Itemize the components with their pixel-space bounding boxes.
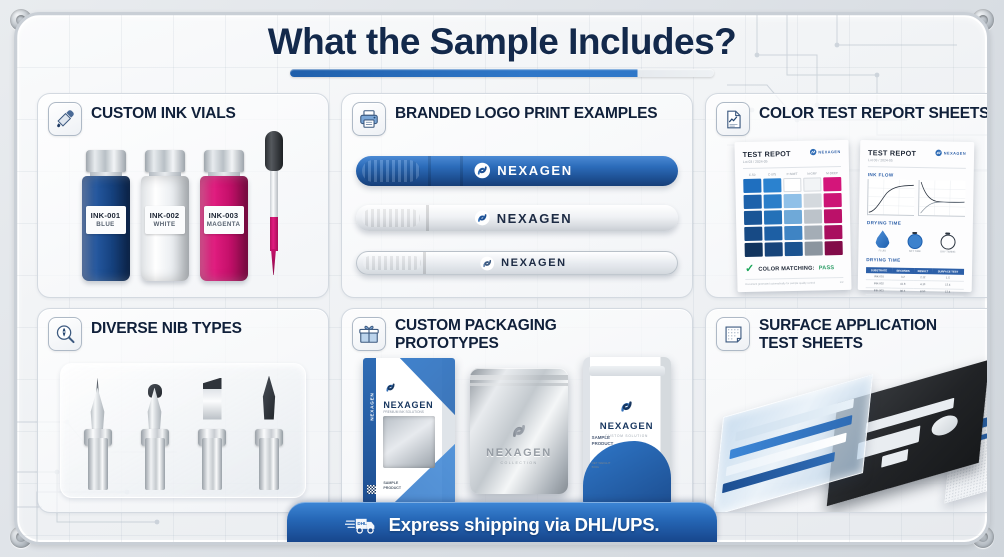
panel-surface-application-test-sheets[interactable]: SURFACE APPLICATION TEST SHEETS xyxy=(705,308,990,513)
sheet-brand-text: NEXAGEN xyxy=(818,149,840,153)
tin-lid-edge xyxy=(470,375,568,380)
pen-white[interactable]: NEXAGEN xyxy=(356,205,678,231)
vial-body: INK-002 WHITE xyxy=(141,176,189,281)
page-title: What the Sample Includes? xyxy=(17,21,987,63)
panel-title: COLOR TEST REPORT SHEETS xyxy=(759,102,989,123)
color-swatch xyxy=(783,177,801,191)
section-title-drying-table: DRYING TIME xyxy=(866,257,964,264)
qr-code xyxy=(367,485,376,494)
drying-icon-item: DRY TIMING xyxy=(940,232,956,253)
pen-transparent[interactable]: NEXAGEN xyxy=(356,251,678,275)
table-body: INK-0013.22.121.5INK-00241.84.1012.4INK-… xyxy=(865,273,963,296)
pen-grip xyxy=(362,209,420,227)
svg-text:DHL: DHL xyxy=(357,521,367,526)
section-title-ink-flow: INK FLOW xyxy=(867,172,965,179)
vial-code: INK-003 xyxy=(206,211,242,220)
nexagen-logo-icon xyxy=(480,256,495,271)
color-swatch xyxy=(743,210,761,224)
result-label: COLOR MATCHING: xyxy=(758,265,814,272)
ink-vial-001[interactable]: INK-001 BLUE xyxy=(82,150,130,281)
pipette-dropper xyxy=(263,131,285,281)
panel-branded-logo-print-examples[interactable]: BRANDED LOGO PRINT EXAMPLES xyxy=(341,93,693,298)
vial-label: INK-001 BLUE xyxy=(86,206,126,234)
panel-header: CUSTOM PACKAGING PROTOTYPES xyxy=(352,317,682,354)
box-spine: NEXAGEN xyxy=(363,358,376,504)
dropper-icon xyxy=(48,102,82,136)
shipping-banner[interactable]: DHL Express shipping via DHL/UPS. xyxy=(287,502,717,542)
inner-bezel: What the Sample Includes? CUSTOM IN xyxy=(14,12,990,545)
sheet-header: TEST REPOT Lot 03 / 2024-05 N xyxy=(742,147,840,168)
table-column-header: RESULT xyxy=(913,267,931,273)
pen-logo-text: NEXAGEN xyxy=(501,257,567,269)
panel-stage: INK-001 BLUE INK-002 WHITE xyxy=(46,142,320,289)
pen-logo-text: NEXAGEN xyxy=(497,163,573,178)
sheet-header: TEST REPOT Lot 03 / 2024-05 N xyxy=(867,148,965,169)
stopwatch-outline-icon xyxy=(940,234,955,249)
pouch-zipper xyxy=(589,366,665,376)
title-underline xyxy=(290,69,714,77)
drying-time-icons: FLUID SET TIME DRY TIMING xyxy=(866,230,964,254)
color-swatch xyxy=(783,209,801,223)
tin-branding: NEXAGEN COLLECTION xyxy=(470,420,568,465)
pen-logo-text: NEXAGEN xyxy=(497,211,573,226)
sheet-subheading: Lot 03 / 2024-05 xyxy=(742,159,790,164)
packaging-list: NEXAGEN NEXAGEN PREMIUM INK SOLUTIONS xyxy=(350,357,684,504)
stopwatch-filled-icon xyxy=(907,233,922,248)
table-cell: 12.4 xyxy=(931,281,963,289)
panel-color-test-report-sheets[interactable]: COLOR TEST REPORT SHEETS TEST REPOT Lot … xyxy=(705,93,990,298)
dark-mark xyxy=(881,449,908,468)
color-swatch xyxy=(743,178,761,192)
packaging-metal-tin[interactable]: NEXAGEN COLLECTION xyxy=(470,368,568,494)
color-swatch xyxy=(784,241,802,255)
box-branding: NEXAGEN PREMIUM INK SOLUTIONS xyxy=(383,380,433,414)
nib-tip xyxy=(261,376,278,420)
swatch-col-label: C-50 xyxy=(743,172,761,176)
printer-icon xyxy=(352,102,386,136)
textured-sheet-icon xyxy=(716,317,750,351)
pouch-note-text: NET WEIGHT500G xyxy=(592,461,611,470)
color-swatch xyxy=(823,193,841,207)
report-sheet-ink-flow[interactable]: TEST REPOT Lot 03 / 2024-05 N xyxy=(857,140,974,292)
nib-tip xyxy=(203,378,222,420)
pen-branding: NEXAGEN xyxy=(474,162,573,179)
color-swatch xyxy=(764,242,782,256)
table-cell: INK-003 xyxy=(865,287,891,295)
vial-color-name: BLUE xyxy=(88,221,124,228)
color-swatch xyxy=(744,226,762,240)
sheet-footer: Document generated automatically for sam… xyxy=(745,276,843,285)
vial-code: INK-002 xyxy=(147,211,183,220)
table-column-header: SECONDS xyxy=(892,267,914,274)
panel-header: SURFACE APPLICATION TEST SHEETS xyxy=(716,317,990,354)
pen-branding: NEXAGEN xyxy=(480,256,567,271)
table-column-header: SUBSTRATE xyxy=(865,267,891,274)
panel-title: BRANDED LOGO PRINT EXAMPLES xyxy=(395,102,657,123)
magnifier-nib-icon xyxy=(48,317,82,351)
ink-flow-charts xyxy=(867,179,966,217)
box-footer-text: SAMPLEPRODUCT xyxy=(383,481,401,492)
sheet-footer-left: Document generated automatically for sam… xyxy=(745,281,815,285)
panel-title: CUSTOM INK VIALS xyxy=(91,102,236,123)
pouch-brand-text: NEXAGEN xyxy=(583,421,671,432)
nexagen-logo-icon xyxy=(383,380,398,395)
color-swatch xyxy=(763,194,781,208)
dropper-tip xyxy=(271,249,276,275)
nexagen-logo-icon xyxy=(508,420,530,442)
tin-brand-text: NEXAGEN xyxy=(470,447,568,459)
pouch-branding: NEXAGEN CUSTOM SOLUTION xyxy=(583,397,671,438)
chart-flow-rise xyxy=(867,179,915,216)
swatch-col-label: C-075 xyxy=(763,172,781,176)
panel-title: CUSTOM PACKAGING PROTOTYPES xyxy=(395,317,557,354)
dropper-fluid xyxy=(270,217,278,251)
panel-title-line2: PROTOTYPES xyxy=(395,335,557,353)
surface-sample-list xyxy=(714,357,990,504)
vial-body: INK-003 MAGENTA xyxy=(200,176,248,281)
color-swatch xyxy=(823,176,841,190)
color-swatch xyxy=(743,194,761,208)
sheet-brand-text: NEXAGEN xyxy=(943,150,965,154)
vial-color-name: MAGENTA xyxy=(206,221,242,228)
nexagen-logo-icon xyxy=(475,210,491,226)
brush-nib[interactable] xyxy=(252,372,286,490)
vial-body: INK-001 BLUE xyxy=(82,176,130,281)
sheet-brand: NEXAGEN xyxy=(934,149,965,157)
box-tagline: PREMIUM INK SOLUTIONS xyxy=(383,410,433,414)
table-cell: 88.6 xyxy=(891,287,913,295)
nib-barrel xyxy=(259,438,279,490)
droplet-icon xyxy=(875,230,889,248)
swatch-column-labels: C-50 C-075 P-SOFT N-GRY M-DEEP xyxy=(743,170,841,176)
color-swatch xyxy=(744,242,762,256)
color-swatch xyxy=(804,241,822,255)
dropper-bulb xyxy=(265,131,283,171)
pen-branding: NEXAGEN xyxy=(475,210,573,226)
dark-dot xyxy=(931,412,959,438)
panel-title: DIVERSE NIB TYPES xyxy=(91,317,242,338)
feature-grid: CUSTOM INK VIALS INK-001 BLUE xyxy=(37,93,967,513)
panel-diverse-nib-types[interactable]: DIVERSE NIB TYPES xyxy=(37,308,329,513)
panel-custom-packaging-prototypes[interactable]: CUSTOM PACKAGING PROTOTYPES NEXAGEN xyxy=(341,308,693,513)
vial-label: INK-003 MAGENTA xyxy=(204,206,244,234)
drying-icon-caption: SET TIME xyxy=(907,249,922,252)
pen-ring xyxy=(426,205,429,231)
pouch-graphic-curve xyxy=(583,441,671,505)
bullet-nib[interactable] xyxy=(138,372,172,490)
table-cell: 41.8 xyxy=(891,280,913,288)
color-swatch-grid xyxy=(743,176,843,256)
color-swatch xyxy=(803,209,821,223)
shipping-banner-text: Express shipping via DHL/UPS. xyxy=(389,514,660,536)
table-column-header: SURFACE TEST xyxy=(931,268,963,275)
result-value: PASS xyxy=(818,264,834,270)
document-chart-icon xyxy=(716,102,750,136)
panel-stage xyxy=(46,357,320,504)
chisel-nib[interactable] xyxy=(195,372,229,490)
pen-ring xyxy=(460,156,463,186)
box-brand-text: NEXAGEN xyxy=(383,400,433,410)
packaging-stand-up-pouch[interactable]: NEXAGEN CUSTOM SOLUTION SAMPLEPRODUCT NE… xyxy=(583,357,671,505)
color-swatch xyxy=(783,193,801,207)
table-cell: 8.50 xyxy=(913,288,931,295)
nib-barrel xyxy=(145,438,165,490)
ink-vial-003[interactable]: INK-003 MAGENTA xyxy=(200,150,248,281)
panel-title-line2: TEST SHEETS xyxy=(759,335,937,353)
sheet-subheading: Lot 03 / 2024-05 xyxy=(867,158,915,163)
nexagen-logo-icon xyxy=(809,148,816,155)
vial-label: INK-002 WHITE xyxy=(145,206,185,234)
swatch-col-label: P-SOFT xyxy=(783,171,801,175)
swatch-col-label: N-GRY xyxy=(803,171,821,175)
sheet-heading: TEST REPOT xyxy=(868,148,916,158)
panel-header: BRANDED LOGO PRINT EXAMPLES xyxy=(352,102,682,136)
check-icon: ✓ xyxy=(744,263,753,274)
vial-cap xyxy=(204,150,244,172)
pen-grip xyxy=(362,160,420,182)
chart-flow-decay xyxy=(917,180,965,217)
header: What the Sample Includes? xyxy=(17,21,987,77)
nib-barrel xyxy=(88,438,108,490)
box-spine-text: NEXAGEN xyxy=(370,386,375,426)
table-cell: 13.4 xyxy=(931,288,963,296)
swatch-col-label: M-DEEP xyxy=(823,170,841,174)
panel-header: DIVERSE NIB TYPES xyxy=(48,317,318,351)
sheet-heading: TEST REPOT xyxy=(742,149,790,159)
delivery-truck-icon: DHL xyxy=(345,513,379,537)
vial-code: INK-001 xyxy=(88,211,124,220)
color-swatch xyxy=(763,210,781,224)
table-cell: 3.2 xyxy=(891,273,913,280)
nib-barrel xyxy=(202,438,222,490)
drying-icon-item: FLUID xyxy=(875,230,889,252)
panel-stage: TEST REPOT Lot 03 / 2024-05 N xyxy=(714,142,990,289)
sheet-brand: NEXAGEN xyxy=(809,147,840,155)
color-swatch xyxy=(823,209,841,223)
color-swatch xyxy=(824,225,842,239)
box-window xyxy=(383,416,435,468)
pen-list: NEXAGEN xyxy=(350,142,684,289)
outer-frame: What the Sample Includes? CUSTOM IN xyxy=(0,0,1004,557)
nexagen-logo-icon xyxy=(934,149,941,156)
tin-sub-text: COLLECTION xyxy=(470,461,568,465)
drying-icon-caption: DRY TIMING xyxy=(940,250,955,253)
ink-vial-row: INK-001 BLUE INK-002 WHITE xyxy=(46,142,320,289)
report-sheet-color-matching[interactable]: TEST REPOT Lot 03 / 2024-05 N xyxy=(734,139,851,291)
nib-cone xyxy=(89,388,107,432)
pen-grip xyxy=(363,256,421,270)
report-sheet-list: TEST REPOT Lot 03 / 2024-05 N xyxy=(714,142,990,289)
table-cell: INK-002 xyxy=(865,280,891,288)
panel-stage: NEXAGEN NEXAGEN PREMIUM INK SOLUTIONS xyxy=(350,357,684,504)
color-swatch xyxy=(764,226,782,240)
table-cell: 4.10 xyxy=(913,280,931,287)
color-swatch xyxy=(803,193,821,207)
drying-icon-caption: FLUID xyxy=(875,249,889,252)
color-swatch xyxy=(824,241,842,255)
packaging-carton-box[interactable]: NEXAGEN NEXAGEN PREMIUM INK SOLUTIONS xyxy=(363,358,455,504)
gift-box-icon xyxy=(352,317,386,351)
fine-point-nib[interactable] xyxy=(81,372,115,490)
sheet-footer-right: 1/2 xyxy=(839,280,843,283)
panel-title-line1: SURFACE APPLICATION xyxy=(759,317,937,335)
table-cell: 2.12 xyxy=(913,274,931,281)
color-matching-result: ✓ COLOR MATCHING: PASS xyxy=(744,262,842,275)
vial-color-name: WHITE xyxy=(147,221,183,228)
color-swatch xyxy=(803,177,821,191)
pouch-footer-text: SAMPLEPRODUCT xyxy=(592,435,614,448)
color-swatch xyxy=(763,178,781,192)
panel-custom-ink-vials[interactable]: CUSTOM INK VIALS INK-001 BLUE xyxy=(37,93,329,298)
color-swatch xyxy=(784,225,802,239)
nexagen-logo-icon xyxy=(474,162,491,179)
tin-lid-edge xyxy=(470,383,568,386)
panel-title: SURFACE APPLICATION TEST SHEETS xyxy=(759,317,937,354)
vial-cap xyxy=(145,150,185,172)
drying-icon-item: SET TIME xyxy=(907,231,922,252)
pen-ring xyxy=(428,156,431,186)
section-title-drying-icons: DRYING TIME xyxy=(866,220,964,227)
table-cell: INK-001 xyxy=(865,273,891,280)
panel-header: COLOR TEST REPORT SHEETS xyxy=(716,102,990,136)
panel-title-line1: CUSTOM PACKAGING xyxy=(395,317,557,335)
color-swatch xyxy=(804,225,822,239)
vial-cap xyxy=(86,150,126,172)
panel-stage: NEXAGEN xyxy=(350,142,684,289)
table-cell: 1.5 xyxy=(931,274,963,281)
drying-time-table: SUBSTRATESECONDSRESULTSURFACE TEST INK-0… xyxy=(865,267,963,296)
pen-ring xyxy=(423,252,426,274)
panel-stage xyxy=(714,357,990,504)
pen-blue[interactable]: NEXAGEN xyxy=(356,156,678,186)
ink-vial-002[interactable]: INK-002 WHITE xyxy=(141,150,189,281)
nexagen-logo-icon xyxy=(617,397,636,416)
nib-tray xyxy=(60,363,306,498)
